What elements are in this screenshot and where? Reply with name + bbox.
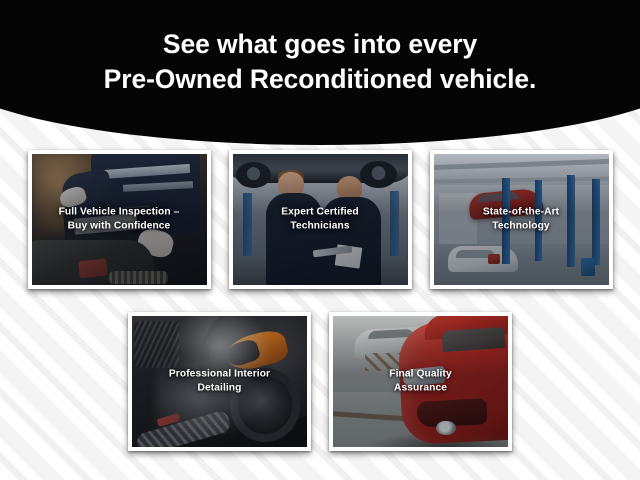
card-image-detailing: Professional Interior Detailing xyxy=(132,316,307,447)
feature-card-expert-certified-technicians[interactable]: Expert Certified Technicians xyxy=(229,150,412,289)
headline-line-2: Pre-Owned Reconditioned vehicle. xyxy=(0,62,640,97)
feature-card-row-top: Full Vehicle Inspection – Buy with Confi… xyxy=(0,150,640,289)
card-caption-quality-assurance: Final Quality Assurance xyxy=(339,367,502,396)
header-text-block: See what goes into every Pre-Owned Recon… xyxy=(0,27,640,97)
caption-line-1: Final Quality xyxy=(389,368,451,379)
feature-card-full-vehicle-inspection[interactable]: Full Vehicle Inspection – Buy with Confi… xyxy=(28,150,211,289)
caption-line-1: State-of-the-Art xyxy=(483,206,559,217)
header-banner: See what goes into every Pre-Owned Recon… xyxy=(0,0,640,145)
headline-line-1: See what goes into every xyxy=(0,27,640,62)
feature-card-professional-interior-detailing[interactable]: Professional Interior Detailing xyxy=(128,312,311,451)
caption-line-1: Full Vehicle Inspection – xyxy=(59,206,180,217)
feature-card-state-of-the-art-technology[interactable]: State-of-the-Art Technology xyxy=(430,150,613,289)
feature-card-grid: Full Vehicle Inspection – Buy with Confi… xyxy=(0,150,640,451)
card-image-technology: State-of-the-Art Technology xyxy=(434,154,609,285)
feature-card-final-quality-assurance[interactable]: Final Quality Assurance xyxy=(329,312,512,451)
caption-line-2: Assurance xyxy=(394,383,447,394)
card-image-technicians: Expert Certified Technicians xyxy=(233,154,408,285)
caption-line-2: Technicians xyxy=(290,221,349,232)
feature-card-row-bottom: Professional Interior Detailing xyxy=(0,312,640,451)
card-image-inspection: Full Vehicle Inspection – Buy with Confi… xyxy=(32,154,207,285)
card-caption-inspection: Full Vehicle Inspection – Buy with Confi… xyxy=(38,205,201,234)
card-caption-detailing: Professional Interior Detailing xyxy=(138,367,301,396)
caption-line-1: Expert Certified xyxy=(281,206,358,217)
caption-line-2: Technology xyxy=(492,221,549,232)
card-caption-technicians: Expert Certified Technicians xyxy=(239,205,402,234)
caption-line-2: Buy with Confidence xyxy=(68,221,171,232)
card-caption-technology: State-of-the-Art Technology xyxy=(440,205,603,234)
card-image-quality-assurance: Final Quality Assurance xyxy=(333,316,508,447)
slide-root: See what goes into every Pre-Owned Recon… xyxy=(0,0,640,480)
caption-line-2: Detailing xyxy=(198,383,242,394)
caption-line-1: Professional Interior xyxy=(169,368,270,379)
